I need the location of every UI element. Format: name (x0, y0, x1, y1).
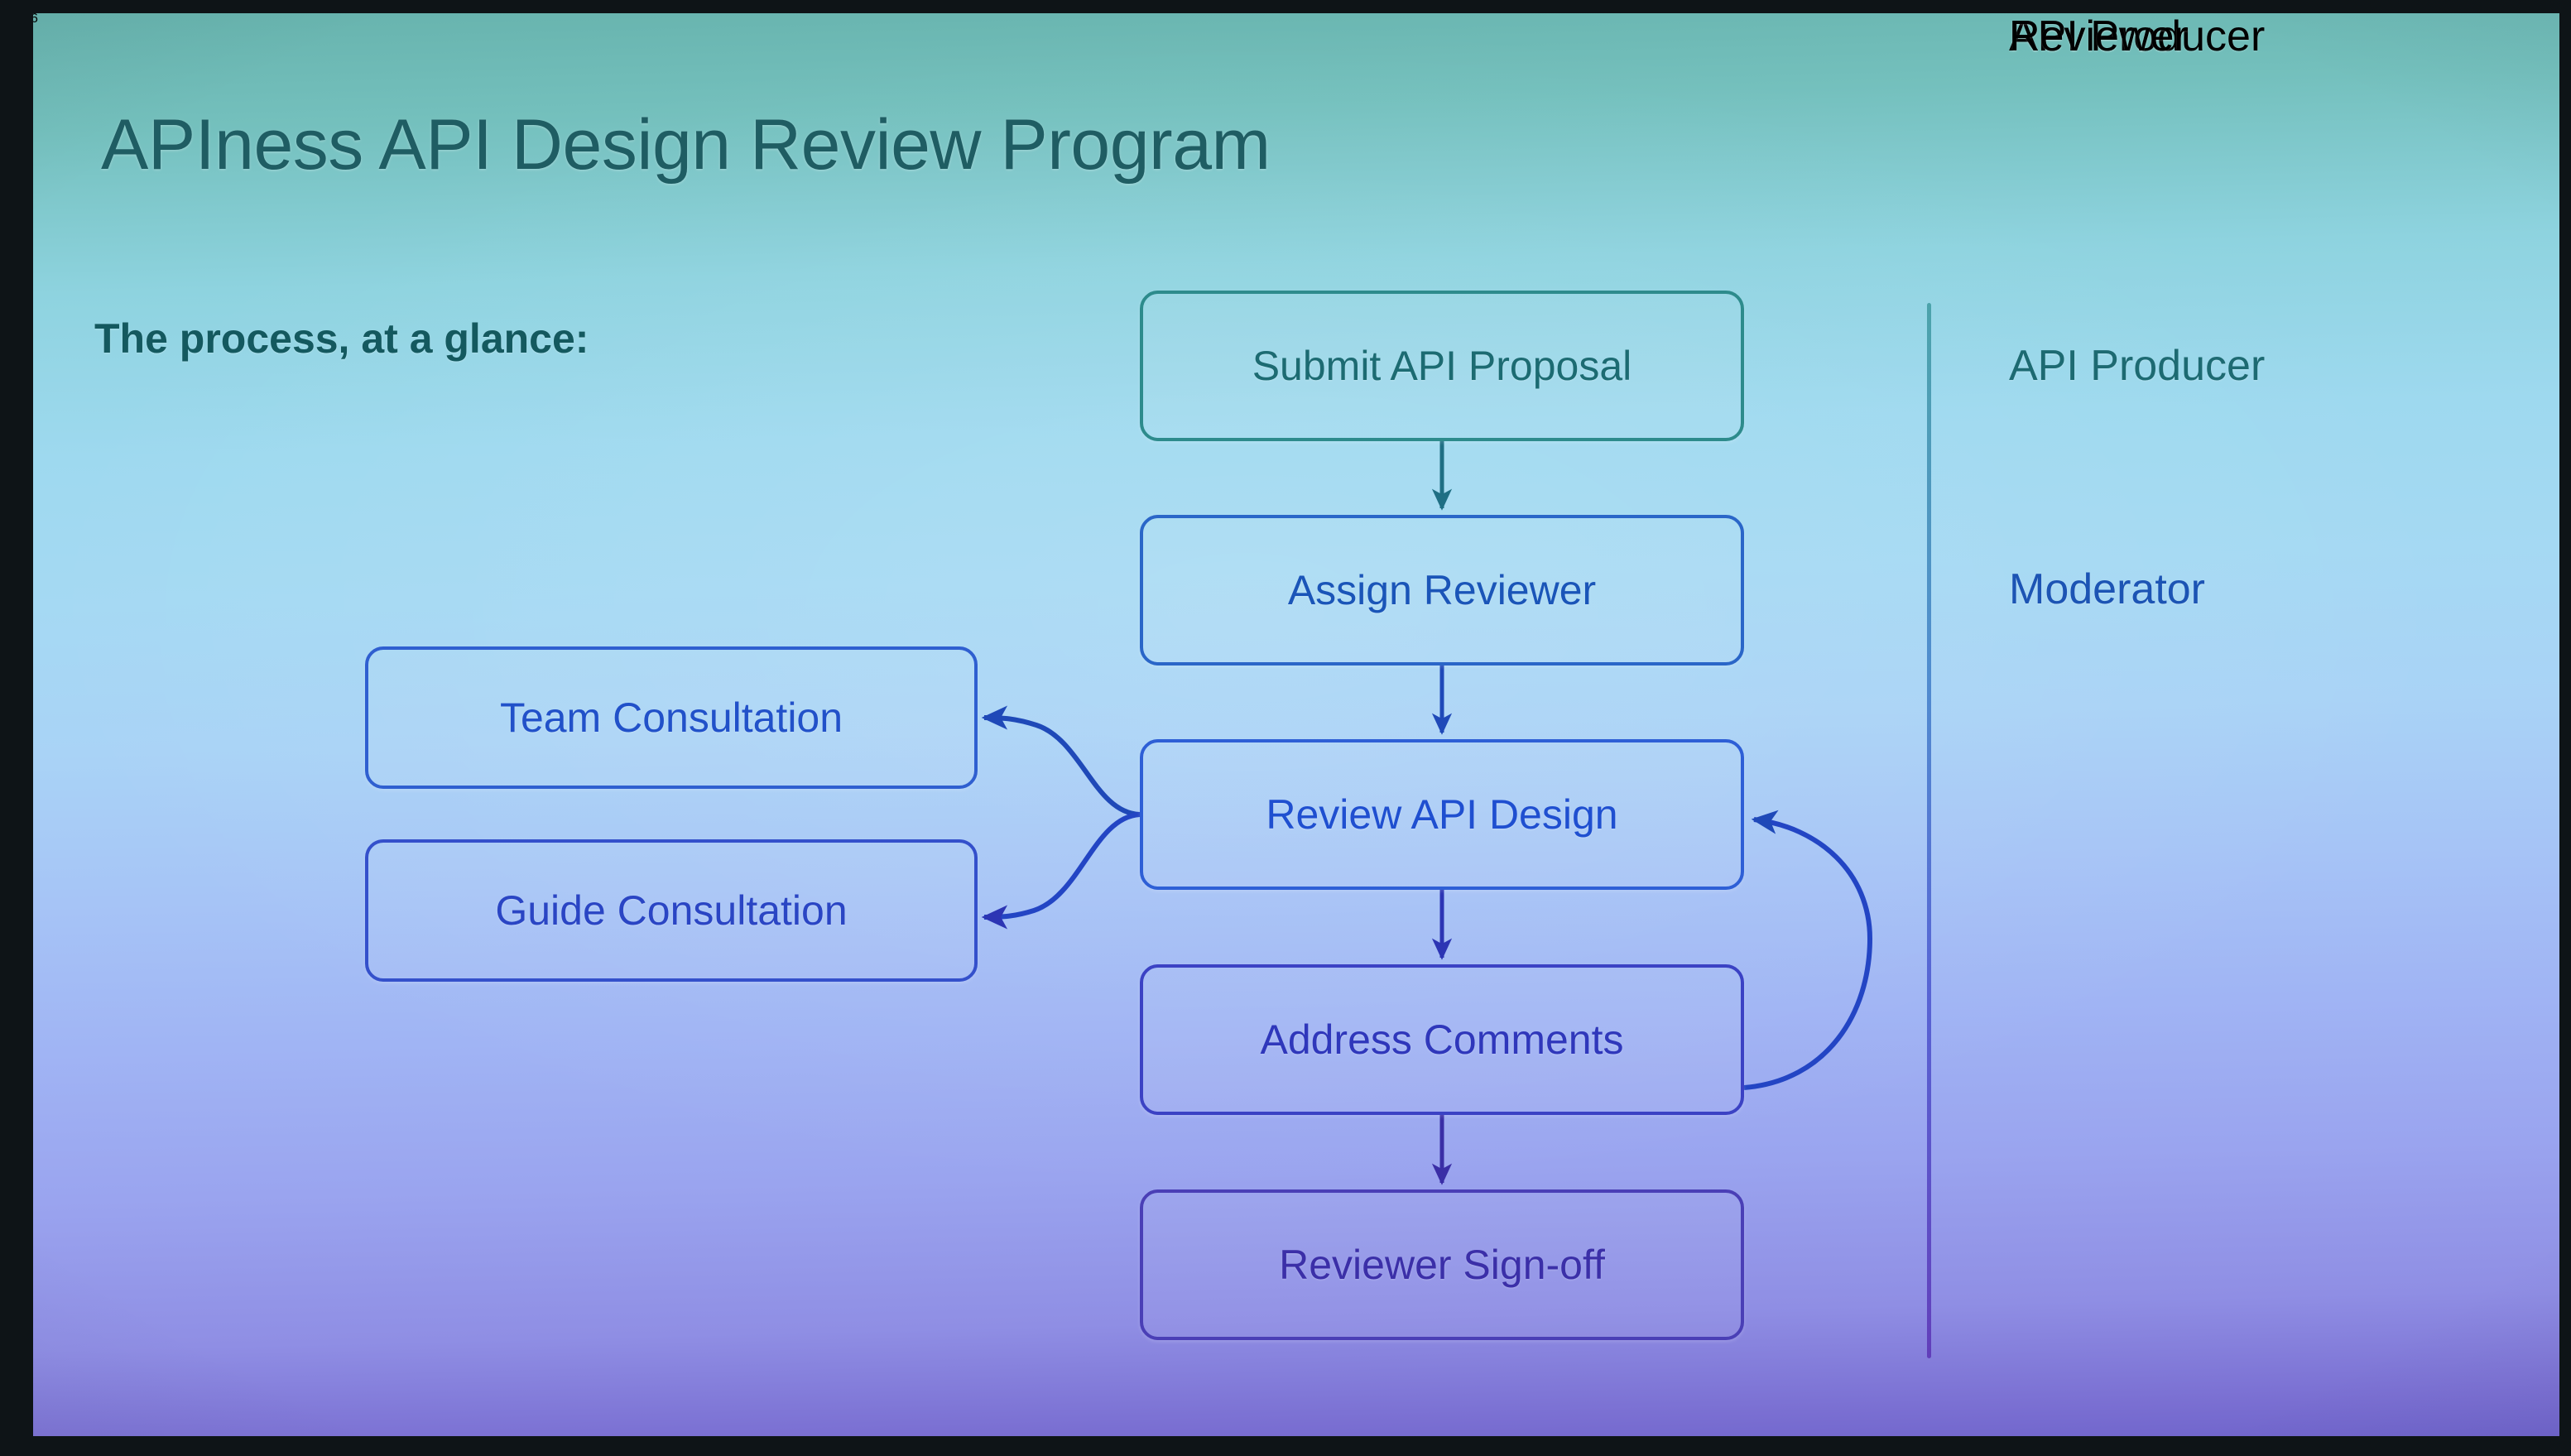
flow-node-address-comments[interactable]: Address Comments (1140, 964, 1744, 1115)
flow-node-label: Address Comments (1260, 1016, 1623, 1064)
role-label-api-producer-submit: API Producer (2009, 341, 2265, 391)
connector-review-to-guide (984, 814, 1140, 917)
flow-node-guide-consultation[interactable]: Guide Consultation (365, 839, 978, 982)
connector-address-to-review-loop (1744, 819, 1870, 1088)
flow-node-team-consultation[interactable]: Team Consultation (365, 646, 978, 789)
role-column-divider (1927, 303, 1931, 1358)
flow-node-assign-reviewer[interactable]: Assign Reviewer (1140, 515, 1744, 666)
flow-node-label: Review API Design (1266, 790, 1617, 839)
role-label-reviewer-signoff: Reviewer (2009, 12, 2189, 61)
flow-node-review-api-design[interactable]: Review API Design (1140, 739, 1744, 890)
flow-node-submit-api-proposal[interactable]: Submit API Proposal (1140, 291, 1744, 441)
screen-bezel-bottom (0, 1436, 2571, 1456)
screen-bezel-right (2559, 0, 2571, 1456)
flow-node-label: Team Consultation (500, 694, 843, 742)
flow-node-label: Guide Consultation (495, 887, 847, 935)
presentation-slide: APIness API Design Review Program The pr… (31, 12, 2562, 1438)
projector-photo-frame: APIness API Design Review Program The pr… (0, 0, 2571, 1456)
flow-node-reviewer-sign-off[interactable]: Reviewer Sign-off (1140, 1189, 1744, 1340)
screen-bezel-left (0, 0, 33, 1456)
role-label-moderator: Moderator (2009, 565, 2205, 614)
flow-node-label: Assign Reviewer (1288, 566, 1596, 614)
screen-bezel-top (0, 0, 2571, 13)
flow-node-label: Submit API Proposal (1252, 342, 1632, 390)
connector-review-to-team (984, 718, 1140, 814)
flow-node-label: Reviewer Sign-off (1279, 1241, 1605, 1289)
